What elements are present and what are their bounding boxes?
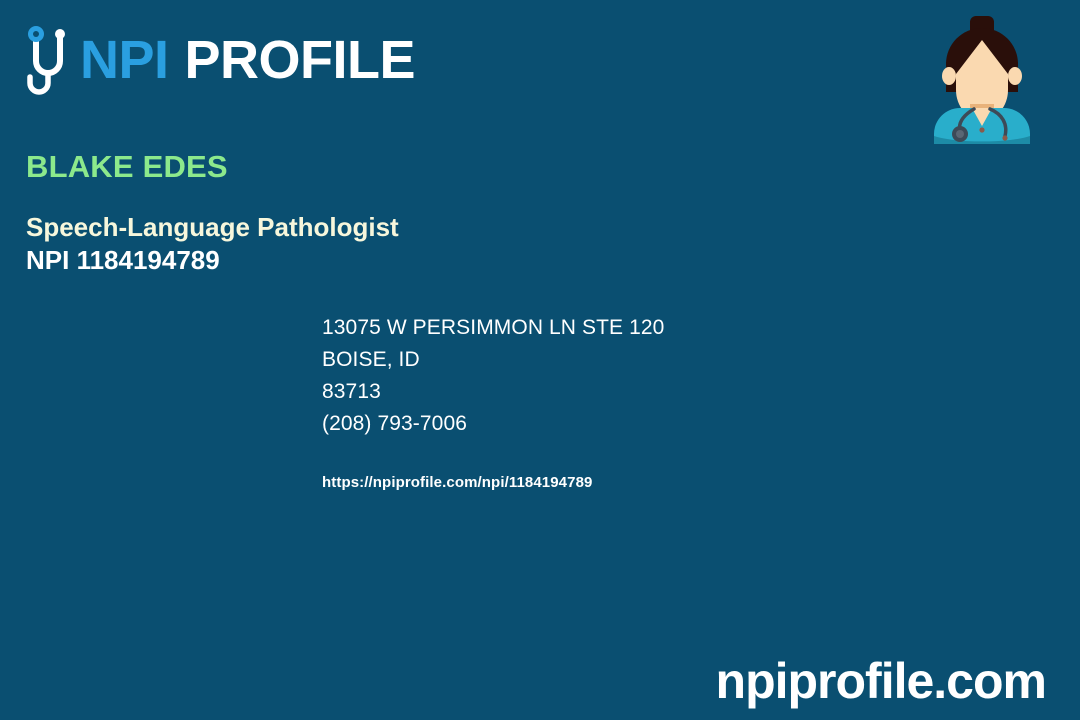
brand-header: NPI PROFILE [24,24,415,96]
profile-url[interactable]: https://npiprofile.com/npi/1184194789 [322,474,592,491]
stethoscope-icon [24,21,78,99]
female-doctor-avatar-icon [928,12,1036,144]
provider-npi-number: NPI 1184194789 [26,244,726,277]
brand-name-npi: NPI [80,33,169,87]
site-footer-wordmark: npiprofile.com [716,656,1046,706]
address-phone: (208) 793-7006 [322,408,922,440]
address-street: 13075 W PERSIMMON LN STE 120 [322,312,922,344]
brand-name-profile: PROFILE [185,33,416,87]
address-zip: 83713 [322,376,922,408]
practice-address: 13075 W PERSIMMON LN STE 120 BOISE, ID 8… [322,312,922,440]
npi-profile-card: NPI PROFILE [0,0,1080,720]
address-city-state: BOISE, ID [322,344,922,376]
provider-taxonomy: Speech-Language Pathologist [26,211,726,244]
provider-summary: BLAKE EDES Speech-Language Pathologist N… [26,148,726,278]
provider-name: BLAKE EDES [26,148,726,185]
